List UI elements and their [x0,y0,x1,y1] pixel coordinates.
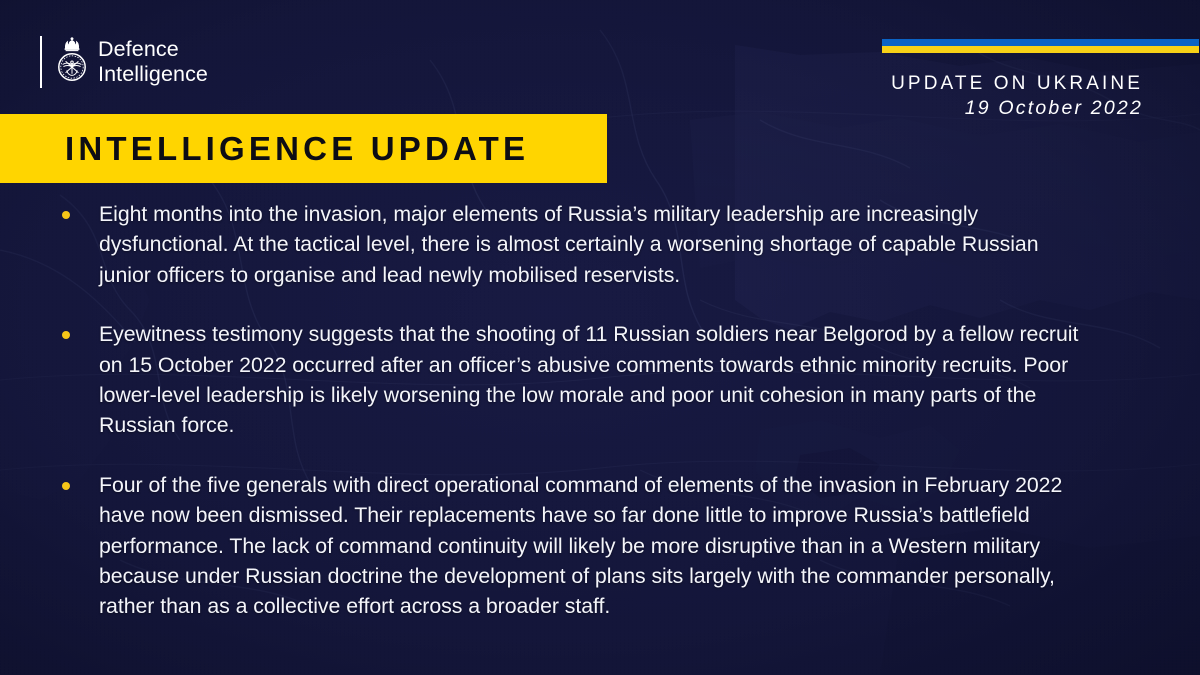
bullet-text: Eight months into the invasion, major el… [99,199,1092,290]
uk-defence-intelligence-crest-icon [52,34,92,90]
vertical-divider-icon [40,36,42,88]
banner-title: INTELLIGENCE UPDATE [65,130,529,168]
bullet-text: Eyewitness testimony suggests that the s… [99,319,1092,441]
flag-yellow-stripe [882,46,1199,53]
update-title: UPDATE ON UKRAINE [891,72,1143,95]
logo-line-defence: Defence [98,37,208,62]
intelligence-update-banner: INTELLIGENCE UPDATE [0,114,607,183]
update-label-block: UPDATE ON UKRAINE 19 October 2022 [891,72,1143,120]
list-item: Eight months into the invasion, major el… [62,199,1092,290]
logo-line-intelligence: Intelligence [98,62,208,87]
defence-intelligence-logo: Defence Intelligence [40,33,208,91]
flag-blue-stripe [882,39,1199,46]
bullet-dot-icon [62,331,70,339]
bullet-text: Four of the five generals with direct op… [99,470,1092,622]
list-item: Four of the five generals with direct op… [62,470,1092,622]
intelligence-update-slide: Defence Intelligence UPDATE ON UKRAINE 1… [0,0,1200,675]
bullet-dot-icon [62,211,70,219]
logo-wordmark: Defence Intelligence [98,37,208,87]
bullet-list: Eight months into the invasion, major el… [62,199,1092,622]
bullet-dot-icon [62,482,70,490]
list-item: Eyewitness testimony suggests that the s… [62,319,1092,441]
ukraine-flag-bar-icon [882,39,1199,53]
update-date: 19 October 2022 [891,96,1143,120]
